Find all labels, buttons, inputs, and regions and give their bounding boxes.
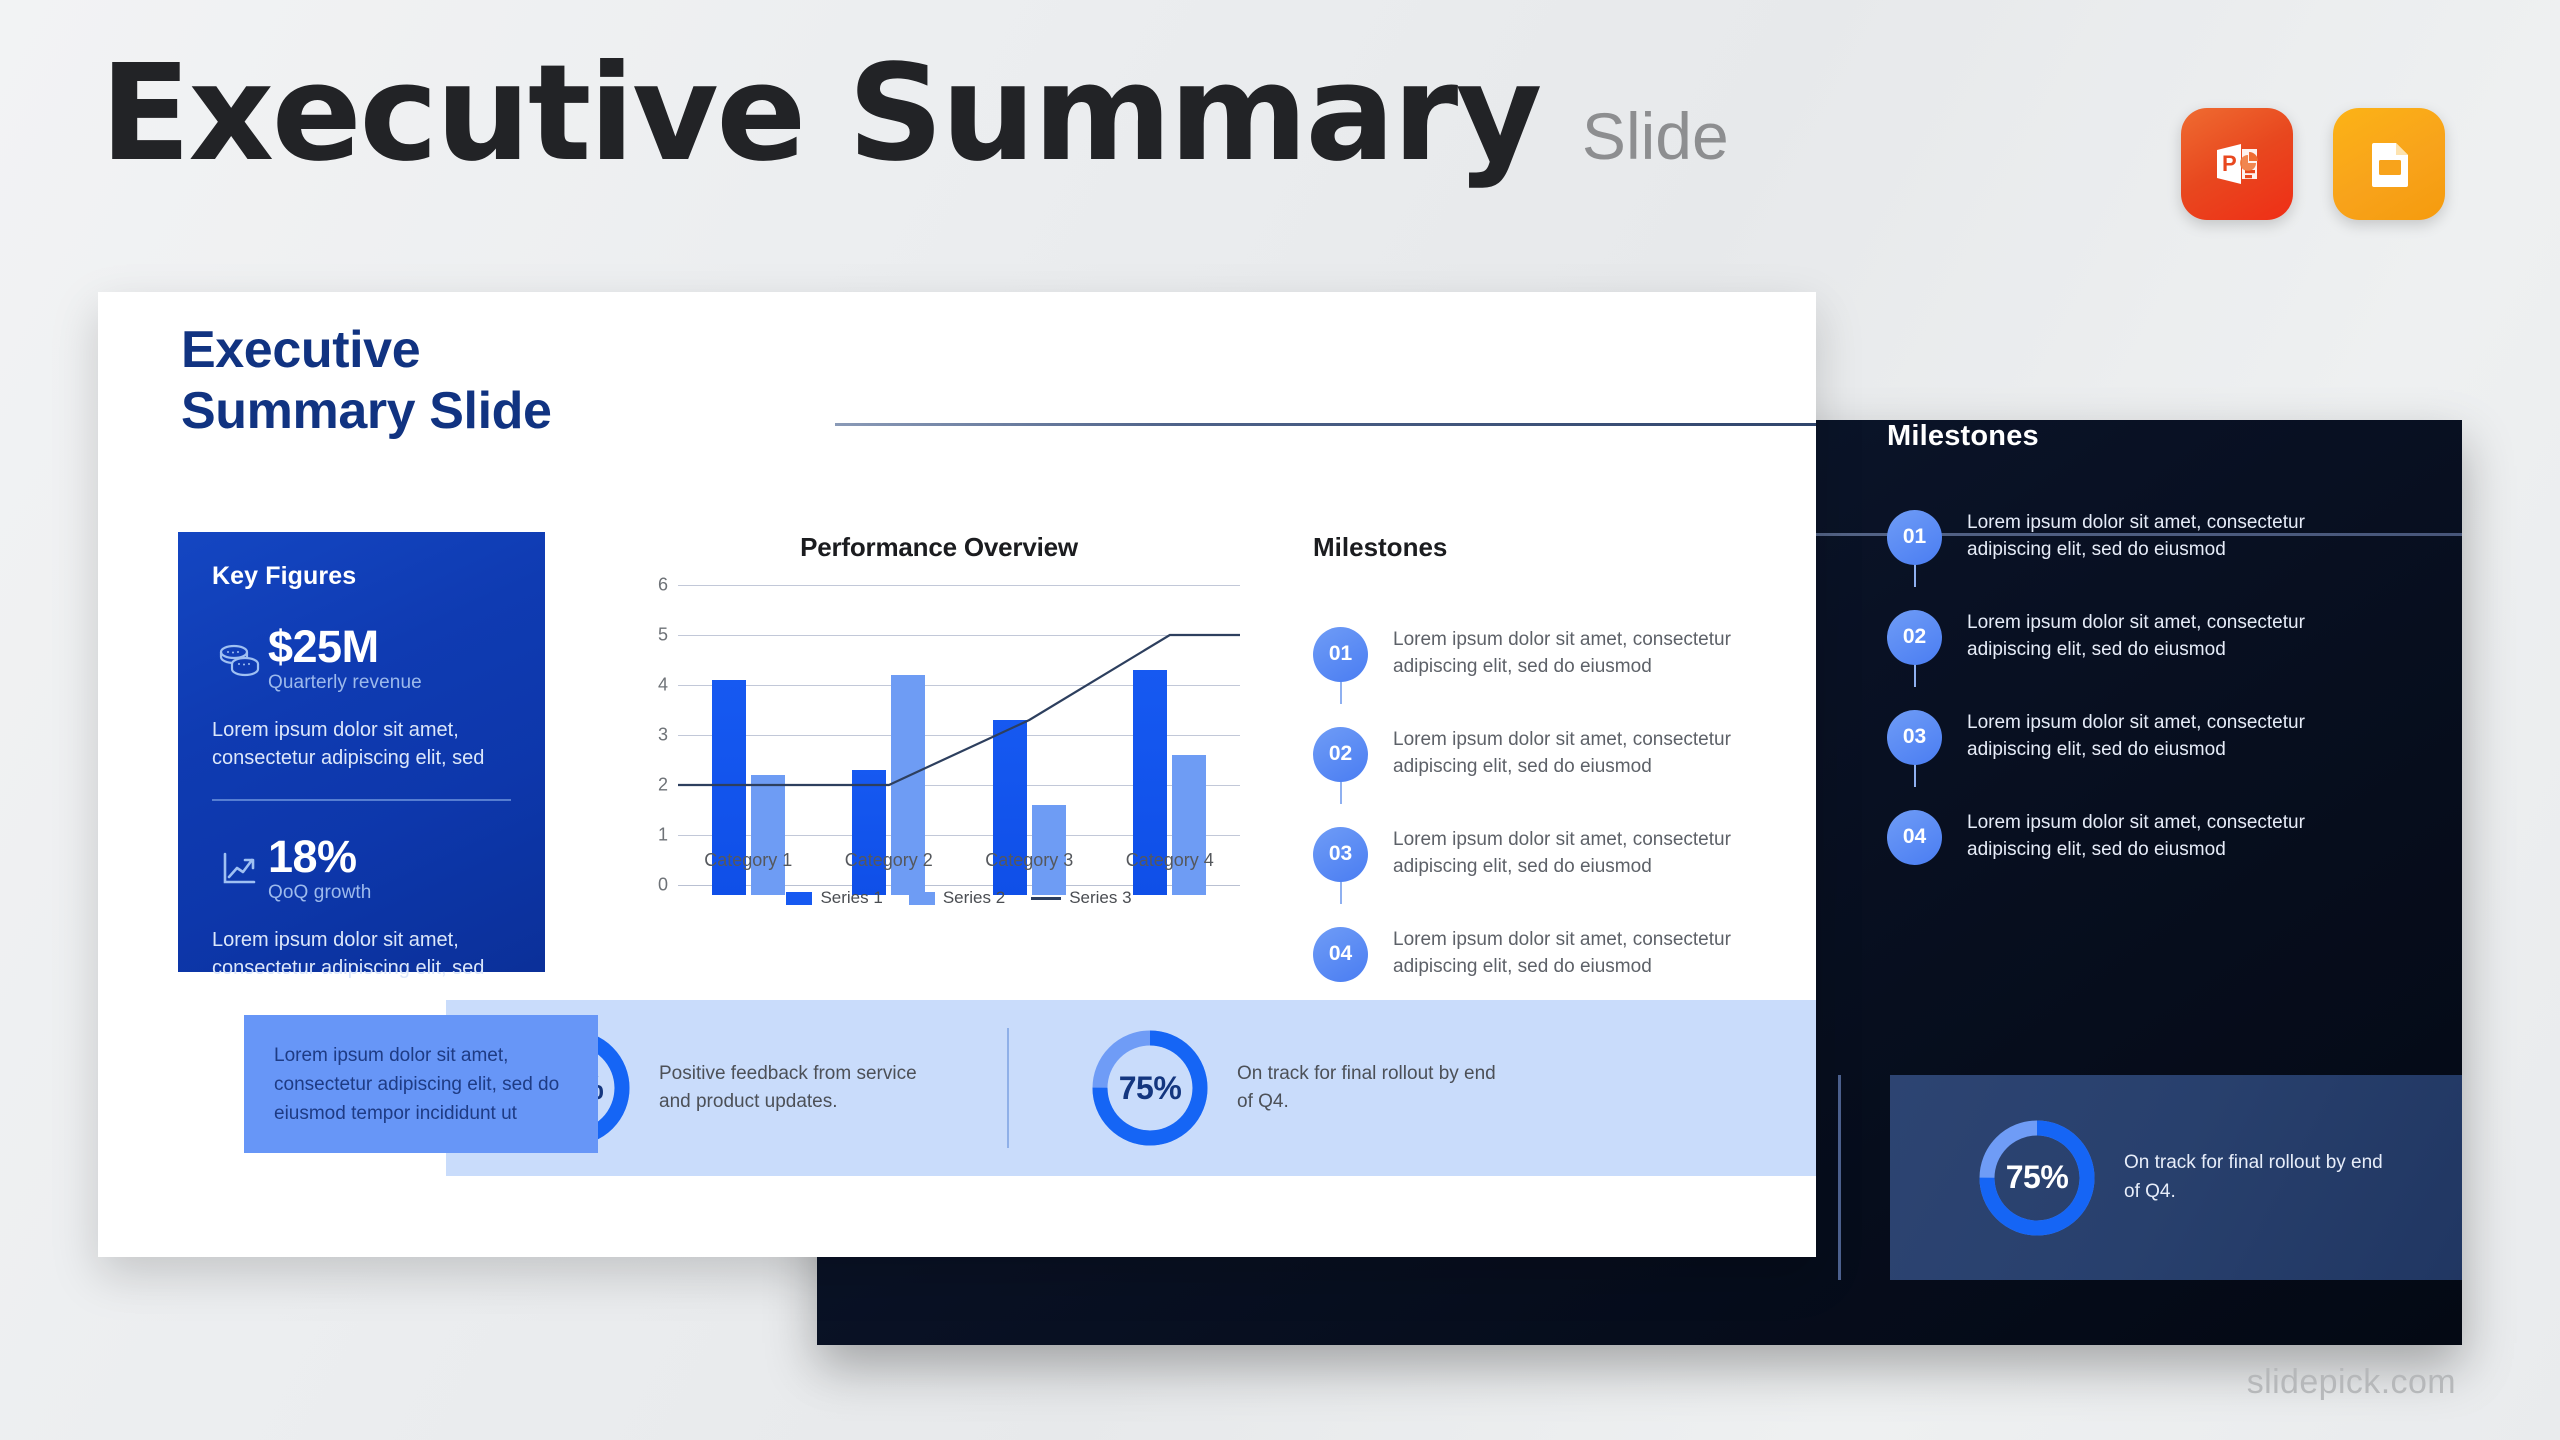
milestone-text: Lorem ipsum dolor sit amet, consectetur … [1967, 810, 2357, 864]
legend-line-swatch [1031, 897, 1061, 900]
slide-title-divider [835, 423, 1816, 426]
chart-line-series [678, 585, 1240, 885]
trend-up-icon [212, 849, 268, 889]
chart-legend: Series 1 Series 2 Series 3 [678, 888, 1240, 908]
key-figure-body: Lorem ipsum dolor sit amet, consectetur … [212, 716, 511, 773]
google-slides-icon[interactable] [2333, 108, 2445, 220]
page-subtitle: Slide [1582, 103, 1729, 169]
dark-stat-card: 75% On track for final rollout by end of… [1890, 1075, 2462, 1280]
performance-chart: Performance Overview 6 5 4 3 2 1 0 [634, 532, 1244, 952]
milestone-number-badge: 01 [1887, 510, 1942, 565]
x-tick-label: Category 1 [678, 850, 819, 871]
y-tick-label: 3 [634, 725, 668, 746]
quote-card: Lorem ipsum dolor sit amet, consectetur … [244, 1015, 598, 1153]
milestone-text: Lorem ipsum dolor sit amet, consectetur … [1967, 610, 2357, 664]
list-item[interactable]: 03 Lorem ipsum dolor sit amet, consectet… [1313, 804, 1783, 904]
svg-text:P: P [2222, 151, 2237, 176]
key-figure-value: 18% [268, 835, 371, 879]
watermark: slidepick.com [2247, 1363, 2456, 1402]
chart-title: Performance Overview [634, 532, 1244, 563]
donut-description: Positive feedback from service and produ… [659, 1060, 929, 1117]
milestone-text: Lorem ipsum dolor sit amet, consectetur … [1967, 510, 2357, 564]
milestone-number-badge: 04 [1313, 927, 1368, 982]
key-figures-panel: Key Figures $25M Quarterly revenue [178, 532, 545, 972]
donut-chart: 75% [1087, 1025, 1213, 1151]
donut-value: 75% [1087, 1025, 1213, 1151]
legend-label: Series 1 [820, 888, 882, 908]
key-figure-value: $25M [268, 625, 422, 669]
page-title: Executive Summary [100, 48, 1540, 181]
milestone-number-badge: 04 [1887, 810, 1942, 865]
y-tick-label: 4 [634, 675, 668, 696]
dark-donut-stat: 75% On track for final rollout by end of… [1974, 1115, 2394, 1241]
key-figures-divider [212, 799, 511, 801]
key-figures-heading: Key Figures [212, 562, 511, 591]
donut-description: On track for final rollout by end of Q4. [2124, 1149, 2394, 1206]
milestone-text: Lorem ipsum dolor sit amet, consectetur … [1393, 827, 1783, 881]
list-item[interactable]: 04 Lorem ipsum dolor sit amet, consectet… [1887, 787, 2357, 887]
milestone-number-badge: 03 [1887, 710, 1942, 765]
x-tick-label: Category 3 [959, 850, 1100, 871]
legend-swatch [786, 892, 812, 905]
key-figure-label: Quarterly revenue [268, 672, 422, 694]
header-title-group: Executive Summary Slide [100, 48, 1729, 181]
key-figure-label: QoQ growth [268, 882, 371, 904]
milestones-list: 01 Lorem ipsum dolor sit amet, consectet… [1313, 604, 1783, 1004]
milestone-number-badge: 02 [1887, 610, 1942, 665]
key-figure-body: Lorem ipsum dolor sit amet, consectetur … [212, 926, 511, 983]
coins-icon [212, 640, 268, 680]
y-tick-label: 5 [634, 625, 668, 646]
list-item[interactable]: 01 Lorem ipsum dolor sit amet, consectet… [1313, 604, 1783, 704]
x-tick-label: Category 4 [1100, 850, 1241, 871]
milestone-text: Lorem ipsum dolor sit amet, consectetur … [1967, 710, 2357, 764]
list-item[interactable]: 02 Lorem ipsum dolor sit amet, consectet… [1887, 587, 2357, 687]
slide-title: Executive Summary Slide [181, 320, 552, 442]
list-item[interactable]: 03 Lorem ipsum dolor sit amet, consectet… [1887, 687, 2357, 787]
donut-chart: 75% [1974, 1115, 2100, 1241]
milestone-text: Lorem ipsum dolor sit amet, consectetur … [1393, 627, 1783, 681]
slide-preview-light[interactable]: Executive Summary Slide Key Figures [98, 292, 1816, 1257]
chart-x-labels: Category 1 Category 2 Category 3 Categor… [678, 850, 1240, 871]
app-icon-group: P [2181, 108, 2445, 220]
stats-band: 86% Positive feedback from service and p… [446, 1000, 1816, 1176]
stat-75: 75% On track for final rollout by end of… [1087, 1025, 1507, 1151]
band-divider [1007, 1028, 1009, 1148]
donut-description: On track for final rollout by end of Q4. [1237, 1060, 1507, 1117]
donut-value: 75% [1974, 1115, 2100, 1241]
legend-item-series1[interactable]: Series 1 [786, 888, 882, 908]
dark-card-divider [1838, 1075, 1841, 1280]
dark-milestones-list: 01 Lorem ipsum dolor sit amet, consectet… [1887, 487, 2357, 887]
page-header: Executive Summary Slide P [0, 0, 2560, 250]
dark-milestones-heading: Milestones [1887, 420, 2039, 453]
slide-title-line2: Summary Slide [181, 381, 552, 442]
legend-item-series3[interactable]: Series 3 [1031, 888, 1131, 908]
x-tick-label: Category 2 [819, 850, 960, 871]
milestone-number-badge: 02 [1313, 727, 1368, 782]
y-tick-label: 1 [634, 825, 668, 846]
chart-plot-area: 6 5 4 3 2 1 0 [634, 585, 1244, 895]
list-item[interactable]: 02 Lorem ipsum dolor sit amet, consectet… [1313, 704, 1783, 804]
milestone-text: Lorem ipsum dolor sit amet, consectetur … [1393, 927, 1783, 981]
milestone-number-badge: 01 [1313, 627, 1368, 682]
key-figure-item: 18% QoQ growth [212, 835, 511, 904]
legend-swatch [909, 892, 935, 905]
milestones-heading: Milestones [1313, 532, 1447, 563]
key-figure-item: $25M Quarterly revenue [212, 625, 511, 694]
list-item[interactable]: 01 Lorem ipsum dolor sit amet, consectet… [1887, 487, 2357, 587]
milestone-number-badge: 03 [1313, 827, 1368, 882]
y-tick-label: 2 [634, 775, 668, 796]
y-tick-label: 6 [634, 575, 668, 596]
milestone-text: Lorem ipsum dolor sit amet, consectetur … [1393, 727, 1783, 781]
legend-label: Series 2 [943, 888, 1005, 908]
list-item[interactable]: 04 Lorem ipsum dolor sit amet, consectet… [1313, 904, 1783, 1004]
legend-item-series2[interactable]: Series 2 [909, 888, 1005, 908]
y-tick-label: 0 [634, 875, 668, 896]
legend-label: Series 3 [1069, 888, 1131, 908]
slide-title-line1: Executive [181, 320, 552, 381]
powerpoint-icon[interactable]: P [2181, 108, 2293, 220]
